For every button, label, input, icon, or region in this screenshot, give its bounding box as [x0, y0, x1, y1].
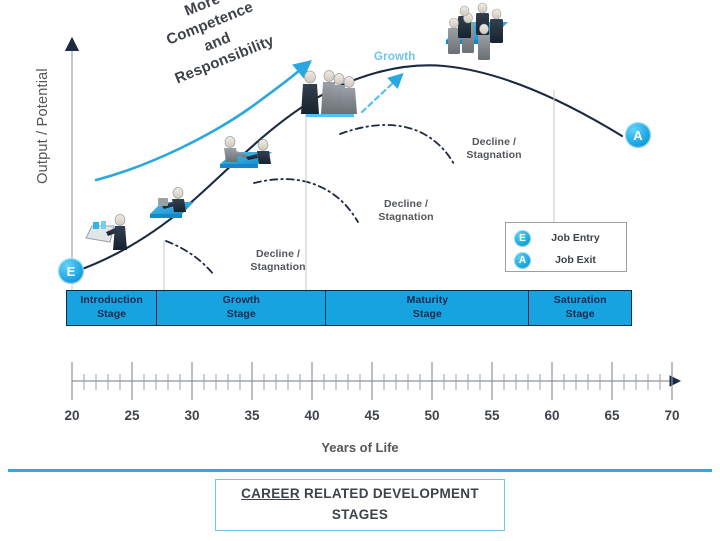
x-tick-label: 35 — [244, 408, 259, 423]
decline-1-line-1: Decline / — [232, 248, 324, 261]
stage-label: MaturityStage — [407, 294, 449, 322]
title-line-1: CAREER RELATED DEVELOPMENT — [241, 484, 479, 505]
decline-branch-late — [340, 125, 454, 164]
decline-branch-early — [166, 241, 214, 275]
x-tick-label: 40 — [304, 408, 319, 423]
x-tick-label: 20 — [64, 408, 79, 423]
decline-3-line-2: Stagnation — [448, 149, 540, 162]
title-box: CAREER RELATED DEVELOPMENT STAGES — [215, 479, 505, 531]
title-line-2: STAGES — [332, 505, 388, 526]
legend-row-a: AJob Exit — [506, 249, 626, 271]
title-line-1-rest: RELATED DEVELOPMENT — [300, 486, 479, 501]
decline-3-line-1: Decline / — [448, 136, 540, 149]
legend-label: Job Exit — [531, 254, 626, 266]
job-exit-marker[interactable]: A — [625, 122, 651, 148]
legend: EJob EntryAJob Exit — [505, 222, 627, 272]
x-axis-label: Years of Life — [0, 440, 720, 455]
y-axis-label: Output / Potential — [35, 31, 51, 221]
person-unpacking-boxes-icon — [86, 215, 127, 251]
x-tick-label: 60 — [544, 408, 559, 423]
decline-annotation-3: Decline / Stagnation — [448, 136, 540, 163]
two-people-at-desk-icon — [220, 137, 272, 169]
decline-annotation-2: Decline / Stagnation — [360, 198, 452, 225]
x-tick-label: 55 — [484, 408, 499, 423]
leader-with-team-icon — [301, 71, 357, 118]
meeting-table-group-icon — [446, 3, 508, 60]
growth-annotation: Growth — [374, 51, 415, 63]
career-stages-diagram: Output / Potential More Competence and R… — [0, 0, 720, 541]
stage-label: SaturationStage — [554, 294, 607, 322]
stage-label: IntroductionStage — [80, 294, 142, 322]
growth-arrow — [362, 82, 394, 112]
legend-row-e: EJob Entry — [506, 227, 626, 249]
x-tick-label: 30 — [184, 408, 199, 423]
stage-cell-maturity[interactable]: MaturityStage — [326, 291, 529, 325]
x-tick-label: 45 — [364, 408, 379, 423]
person-at-desk-icon — [150, 188, 194, 219]
legend-badge-icon: A — [514, 252, 531, 269]
x-tick-label: 70 — [664, 408, 679, 423]
x-axis — [72, 362, 672, 400]
title-underlined-word: CAREER — [241, 486, 300, 501]
legend-badge-icon: E — [514, 230, 531, 247]
stage-cell-introduction[interactable]: IntroductionStage — [67, 291, 157, 325]
decline-1-line-2: Stagnation — [232, 261, 324, 274]
stage-bar: IntroductionStageGrowthStageMaturityStag… — [66, 290, 632, 326]
x-tick-label: 65 — [604, 408, 619, 423]
job-entry-marker[interactable]: E — [58, 258, 84, 284]
decline-2-line-1: Decline / — [360, 198, 452, 211]
title-divider-rule — [8, 469, 712, 472]
stage-cell-saturation[interactable]: SaturationStage — [529, 291, 631, 325]
decline-annotation-1: Decline / Stagnation — [232, 248, 324, 275]
x-tick-label: 25 — [124, 408, 139, 423]
legend-label: Job Entry — [531, 232, 626, 244]
stage-cell-growth[interactable]: GrowthStage — [157, 291, 326, 325]
x-tick-label: 50 — [424, 408, 439, 423]
stage-label: GrowthStage — [223, 294, 260, 322]
decline-2-line-2: Stagnation — [360, 211, 452, 224]
